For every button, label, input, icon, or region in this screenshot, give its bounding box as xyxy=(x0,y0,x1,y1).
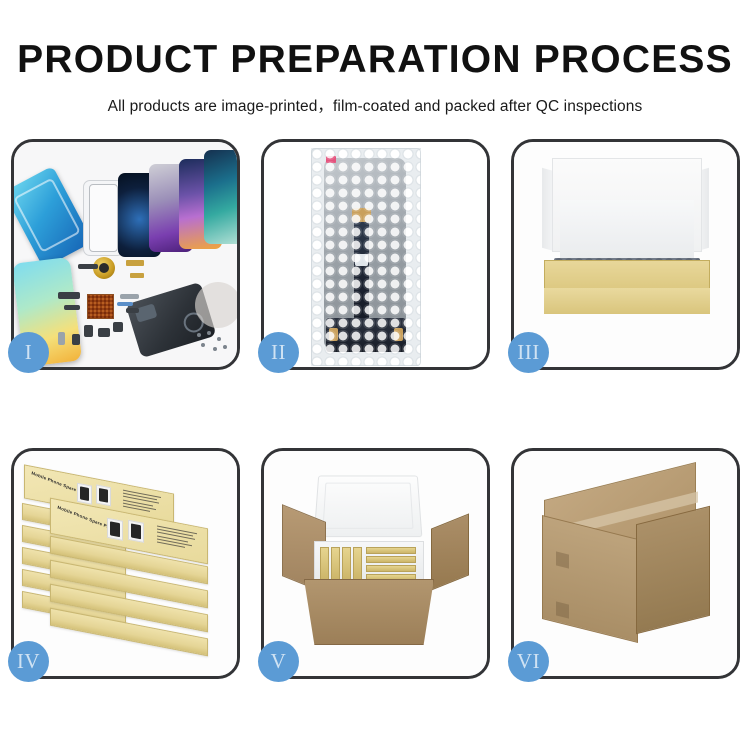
gold-boxes-inside xyxy=(320,545,418,581)
process-step-card-1: I xyxy=(11,139,240,370)
small-part xyxy=(117,302,133,306)
step-badge-5: V xyxy=(258,641,299,682)
carton-seam-mark xyxy=(556,551,569,568)
step-badge-4: IV xyxy=(8,641,49,682)
box-lid-inner xyxy=(560,200,694,262)
box-thumb-image xyxy=(96,484,111,506)
process-step-card-6: VI xyxy=(511,448,740,679)
screen-film-blue xyxy=(14,166,93,268)
bubble-wrap-edge xyxy=(311,148,421,366)
page-title: PRODUCT PREPARATION PROCESS xyxy=(0,40,750,79)
carton-seam-mark xyxy=(556,601,569,618)
carton-body xyxy=(304,579,434,645)
small-part xyxy=(126,308,139,313)
small-part xyxy=(130,273,144,278)
small-part xyxy=(58,292,80,299)
step-3-image xyxy=(514,142,737,367)
box-stack: Mobile Phone Spare Parts Mobile Phone Sp… xyxy=(22,465,236,665)
carton-flap-right xyxy=(431,513,469,590)
step-1-image xyxy=(14,142,237,367)
process-step-card-2: II xyxy=(261,139,490,370)
hand-blur xyxy=(195,282,237,328)
process-step-card-5: V xyxy=(261,448,490,679)
carton-right-face xyxy=(636,506,710,634)
small-part xyxy=(98,328,110,337)
copper-chip-grid-part xyxy=(87,294,114,319)
small-part xyxy=(72,334,80,345)
box-thumb-image xyxy=(107,518,123,541)
small-part xyxy=(126,260,144,266)
step-badge-3: III xyxy=(508,332,549,373)
page-subtitle: All products are image-printed，film-coat… xyxy=(0,94,750,116)
small-part xyxy=(78,264,98,269)
process-step-card-4: Mobile Phone Spare Parts Mobile Phone Sp… xyxy=(11,448,240,679)
page-header: PRODUCT PREPARATION PROCESS All products… xyxy=(0,0,750,116)
small-part xyxy=(64,305,80,310)
foam-lid xyxy=(314,476,423,538)
step-badge-2: II xyxy=(258,332,299,373)
box-thumb-image xyxy=(128,520,144,543)
step-badge-1: I xyxy=(8,332,49,373)
gold-box-front-panel xyxy=(544,288,710,314)
small-part xyxy=(84,325,93,337)
shipping-carton xyxy=(534,475,722,647)
small-part xyxy=(120,294,139,299)
step-6-image xyxy=(514,451,737,676)
product-preparation-page: PRODUCT PREPARATION PROCESS All products… xyxy=(0,0,750,750)
screws-group xyxy=(195,331,229,353)
step-badge-6: VI xyxy=(508,641,549,682)
screen-teal xyxy=(204,150,237,244)
small-part xyxy=(113,322,123,332)
box-thumb-image xyxy=(77,483,92,505)
step-2-image xyxy=(264,142,487,367)
step-4-image: Mobile Phone Spare Parts Mobile Phone Sp… xyxy=(14,451,237,676)
process-step-card-3: III xyxy=(511,139,740,370)
small-part xyxy=(58,332,65,345)
step-5-image xyxy=(264,451,487,676)
process-step-grid: I II xyxy=(11,139,739,679)
